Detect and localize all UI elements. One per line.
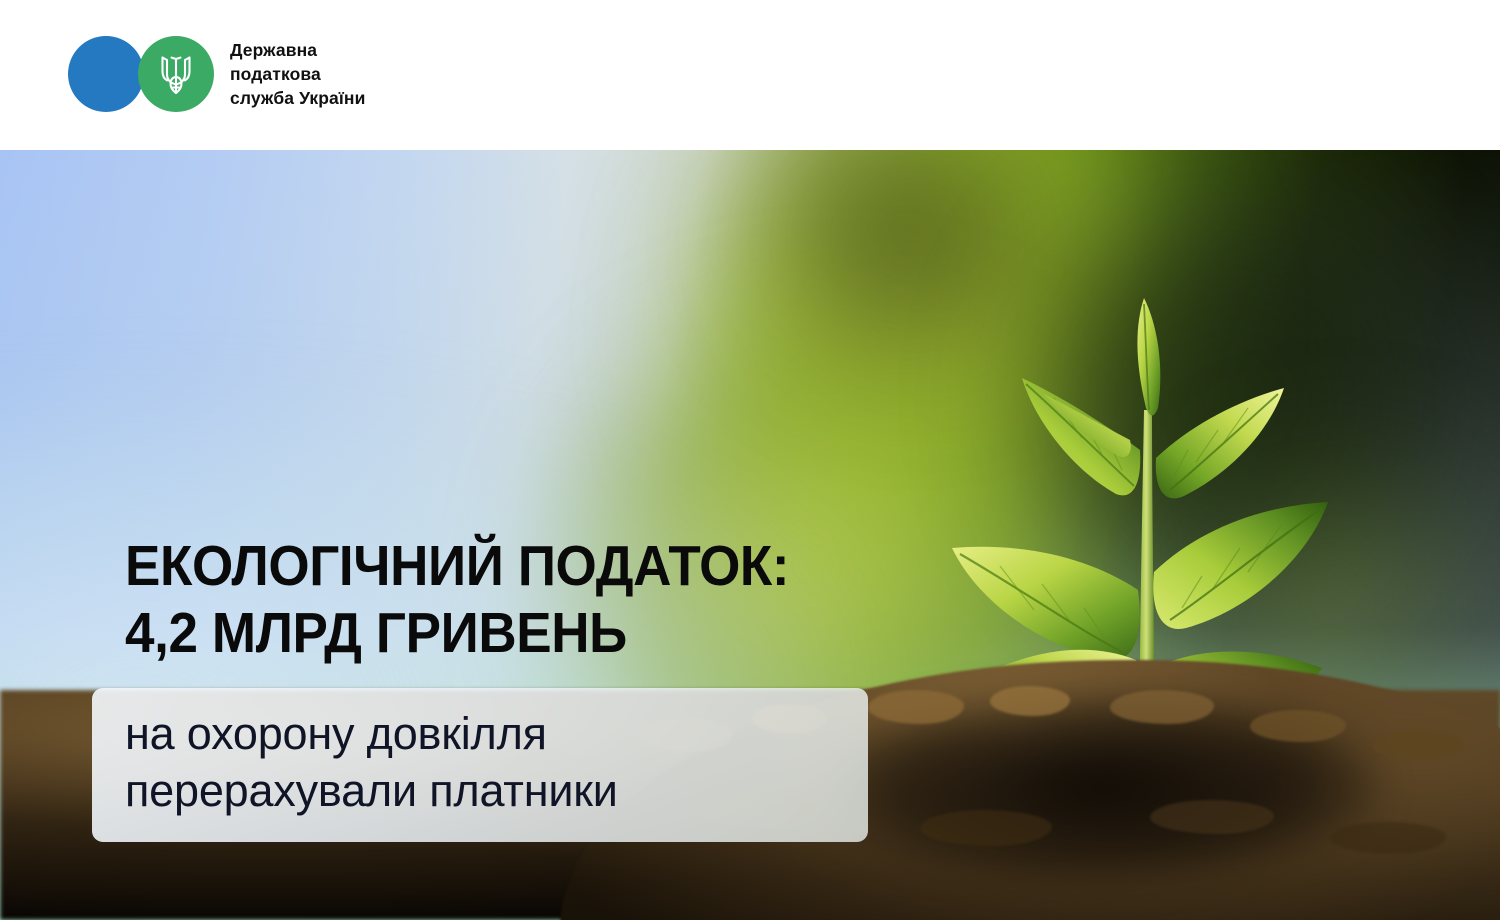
soil-crumb [1330,822,1446,854]
soil-crumb [1150,800,1274,834]
trident-icon [138,36,214,112]
hero-image: ЕКОЛОГІЧНИЙ ПОДАТОК: 4,2 МЛРД ГРИВЕНЬ на… [0,150,1500,920]
page-title: ЕКОЛОГІЧНИЙ ПОДАТОК: 4,2 МЛРД ГРИВЕНЬ [125,533,789,666]
soil-crumb [1250,710,1346,742]
logo[interactable]: Державна податкова служба України [68,36,365,112]
logo-text: Державна податкова служба України [230,38,365,110]
header-bar: Державна податкова служба України [0,0,1500,150]
logo-circle-blue [68,36,144,112]
soil-crumb [920,810,1052,846]
banner: Державна податкова служба України [0,0,1500,920]
soil-crumb [1372,730,1464,760]
soil-crumb [990,686,1070,716]
page-subtitle: на охорону довкілля перерахували платник… [125,706,885,819]
logo-marks [68,36,214,112]
soil-crumb [1110,690,1214,724]
